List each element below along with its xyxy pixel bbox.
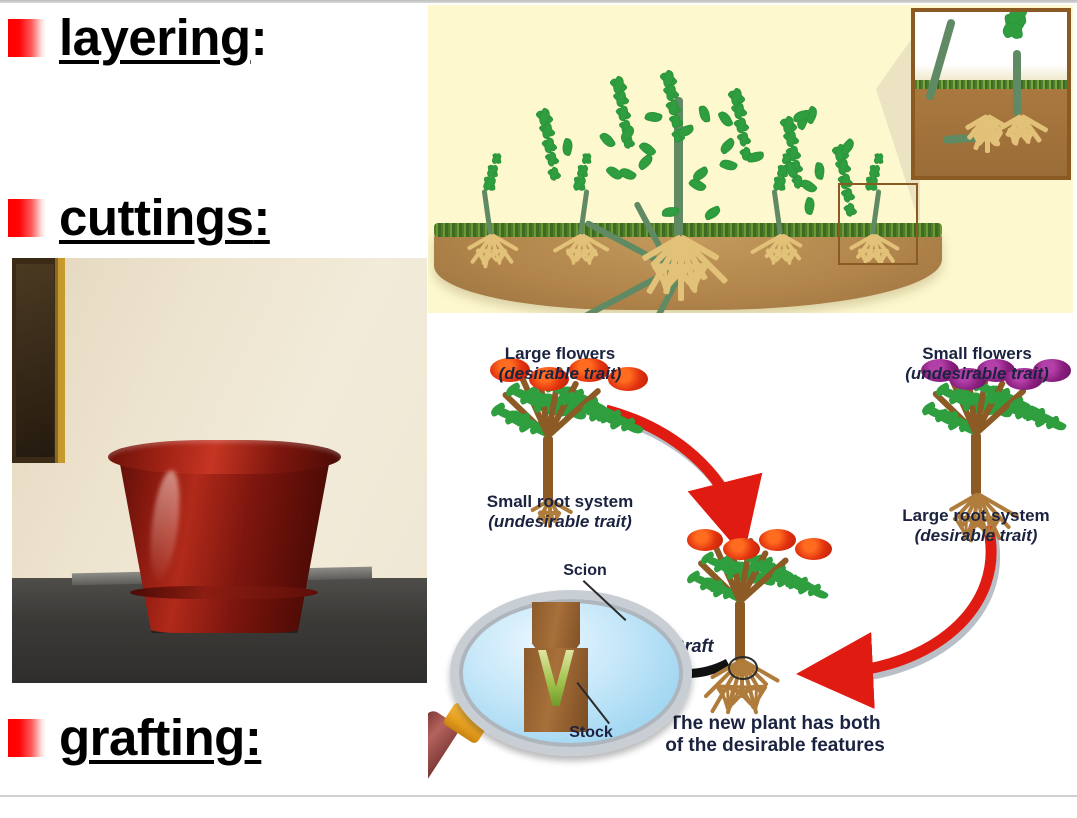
slide-canvas: layering: cuttings: grafting: — [0, 0, 1077, 818]
upright-stem — [1013, 50, 1021, 116]
leaf — [698, 105, 710, 123]
heading-layering-text: layering: — [59, 12, 267, 63]
label-large-root-main: Large root system — [902, 506, 1049, 525]
rootlet — [1020, 128, 1034, 132]
label-small-root-system: Small root system (undesirable trait) — [436, 492, 684, 531]
label-large-root-system: Large root system (desirable trait) — [878, 506, 1073, 545]
label-small-flowers: Small flowers (undesirable trait) — [884, 344, 1070, 383]
heading-grafting[interactable]: grafting: — [8, 712, 261, 763]
leaf — [644, 110, 663, 124]
heading-layering-colon: : — [251, 9, 267, 66]
bottom-margin — [0, 797, 1077, 818]
trunk — [735, 601, 744, 662]
flower — [723, 538, 760, 560]
heading-grafting-colon: : — [245, 709, 261, 766]
leaf — [687, 176, 707, 194]
leaf — [802, 197, 816, 216]
red-square-bullet-icon — [8, 19, 46, 57]
label-new-plant-line1: The new plant has both — [669, 713, 880, 734]
heading-cuttings[interactable]: cuttings: — [8, 192, 270, 243]
leaf — [747, 151, 765, 163]
leaf — [813, 162, 826, 180]
leaf — [717, 109, 734, 129]
heading-grafting-label-underlined: grafting: — [59, 709, 261, 766]
heading-cuttings-label: cuttings — [59, 189, 253, 246]
layering-diagram — [428, 5, 1073, 313]
flower-pot-body — [117, 448, 332, 633]
label-stock-text: Stock — [569, 724, 613, 741]
leaf — [560, 138, 574, 157]
trunk — [971, 433, 981, 496]
heading-layering-label: layering — [59, 9, 251, 66]
spider-plant-photo — [12, 258, 427, 683]
leaf — [702, 205, 722, 221]
heading-grafting-label: grafting — [59, 709, 245, 766]
leaf — [799, 176, 818, 195]
label-large-root-trait: (desirable trait) — [878, 526, 1073, 546]
label-small-root-main: Small root system — [487, 492, 633, 511]
red-square-bullet-icon — [8, 719, 46, 757]
label-small-root-trait: (undesirable trait) — [436, 512, 684, 532]
picture-frame — [12, 258, 65, 463]
leaf — [605, 163, 624, 182]
heading-cuttings-text: cuttings: — [59, 192, 270, 243]
layering-inset-panel — [911, 8, 1071, 180]
label-large-flowers-trait: (desirable trait) — [440, 364, 680, 384]
flower — [795, 538, 832, 560]
label-small-flowers-trait: (undesirable trait) — [884, 364, 1070, 384]
flower-pot-rim — [108, 440, 341, 474]
label-large-flowers-main: Large flowers — [505, 344, 616, 363]
grafting-diagram: Large flowers (desirable trait) Small ro… — [428, 318, 1073, 796]
label-new-plant-line2: of the desirable features — [638, 735, 912, 757]
highlight-box — [838, 183, 918, 265]
label-stock: Stock — [554, 724, 628, 743]
heading-layering[interactable]: layering: — [8, 12, 267, 63]
flower-pot-band — [130, 586, 318, 599]
label-scion-text: Scion — [563, 562, 607, 579]
leaf — [719, 157, 739, 173]
heading-grafting-text: grafting: — [59, 712, 261, 763]
label-scion: Scion — [546, 562, 624, 581]
heading-cuttings-label-underlined: cuttings: — [59, 189, 270, 246]
label-large-flowers: Large flowers (desirable trait) — [440, 344, 680, 383]
label-new-plant: The new plant has both of the desirable … — [638, 713, 912, 757]
graft-union-circle — [728, 656, 758, 680]
leaf — [718, 137, 738, 155]
leaf — [599, 130, 617, 150]
label-small-flowers-main: Small flowers — [922, 344, 1032, 363]
top-divider — [0, 0, 1077, 3]
red-square-bullet-icon — [8, 199, 46, 237]
heading-cuttings-colon: : — [253, 189, 269, 246]
